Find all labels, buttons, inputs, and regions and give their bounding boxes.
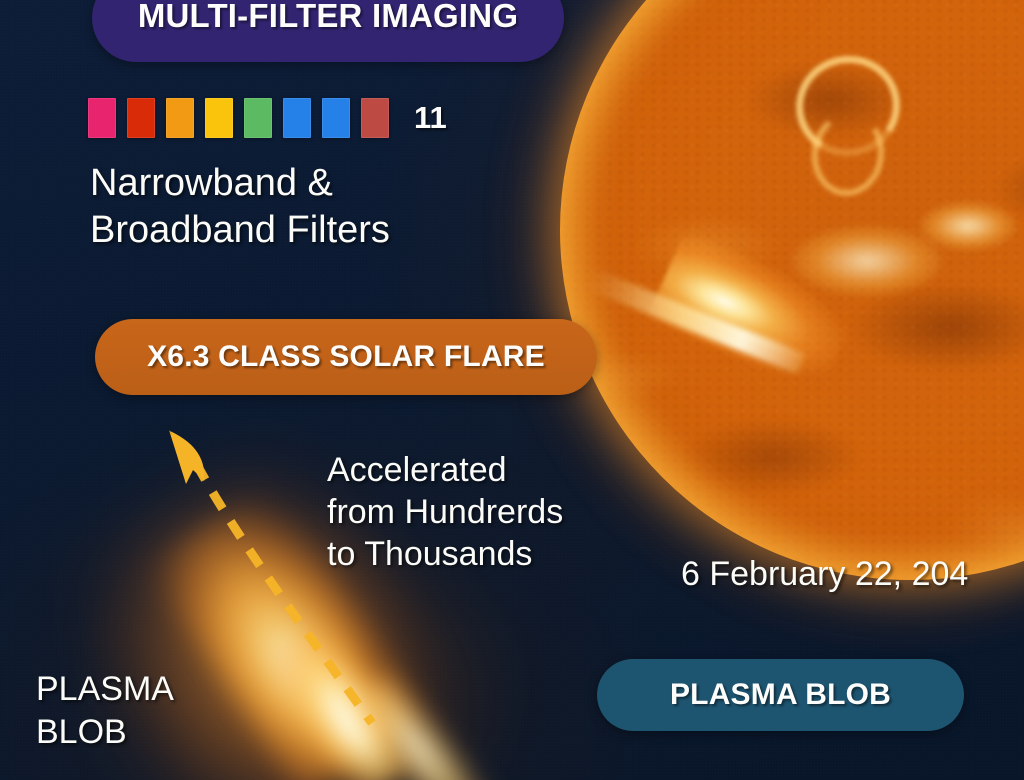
plasma-blob-badge-label: PLASMA BLOB (670, 678, 891, 712)
acceleration-note: Accelerated from Hundrerds to Thousands (327, 449, 563, 575)
filter-swatch-row: 11 (88, 98, 447, 138)
filter-swatch-magenta[interactable] (88, 98, 116, 138)
filter-swatch-blue-2[interactable] (322, 98, 350, 138)
plasma-blob-caption-line-2: BLOB (36, 711, 174, 754)
filter-description-line-1: Narrowband & (90, 160, 390, 207)
filter-description: Narrowband & Broadband Filters (90, 160, 390, 254)
acceleration-note-line-3: to Thousands (327, 533, 563, 575)
plasma-blob-caption-line-1: PLASMA (36, 668, 174, 711)
filter-swatch-yellow[interactable] (205, 98, 233, 138)
acceleration-note-line-2: from Hundrerds (327, 491, 563, 533)
infographic-canvas: MULTI-FILTER IMAGING 11 Narrowband & Bro… (0, 0, 1024, 780)
solar-flare-badge[interactable]: X6.3 CLASS SOLAR FLARE (95, 319, 597, 395)
solar-flare-badge-label: X6.3 CLASS SOLAR FLARE (147, 340, 545, 374)
date-label: 6 February 22, 204 (681, 553, 968, 595)
sun-image (560, 0, 1024, 580)
filter-swatch-red[interactable] (127, 98, 155, 138)
plasma-blob-caption: PLASMA BLOB (36, 668, 174, 754)
multi-filter-imaging-badge[interactable]: MULTI-FILTER IMAGING (92, 0, 564, 62)
filter-swatch-orange[interactable] (166, 98, 194, 138)
filter-count-label: 11 (414, 100, 447, 136)
acceleration-note-line-1: Accelerated (327, 449, 563, 491)
filter-description-line-2: Broadband Filters (90, 207, 390, 254)
filter-swatch-green[interactable] (244, 98, 272, 138)
filter-swatch-brick[interactable] (361, 98, 389, 138)
plasma-blob-badge[interactable]: PLASMA BLOB (597, 659, 964, 731)
multi-filter-imaging-label: MULTI-FILTER IMAGING (138, 0, 518, 35)
filter-swatch-blue[interactable] (283, 98, 311, 138)
